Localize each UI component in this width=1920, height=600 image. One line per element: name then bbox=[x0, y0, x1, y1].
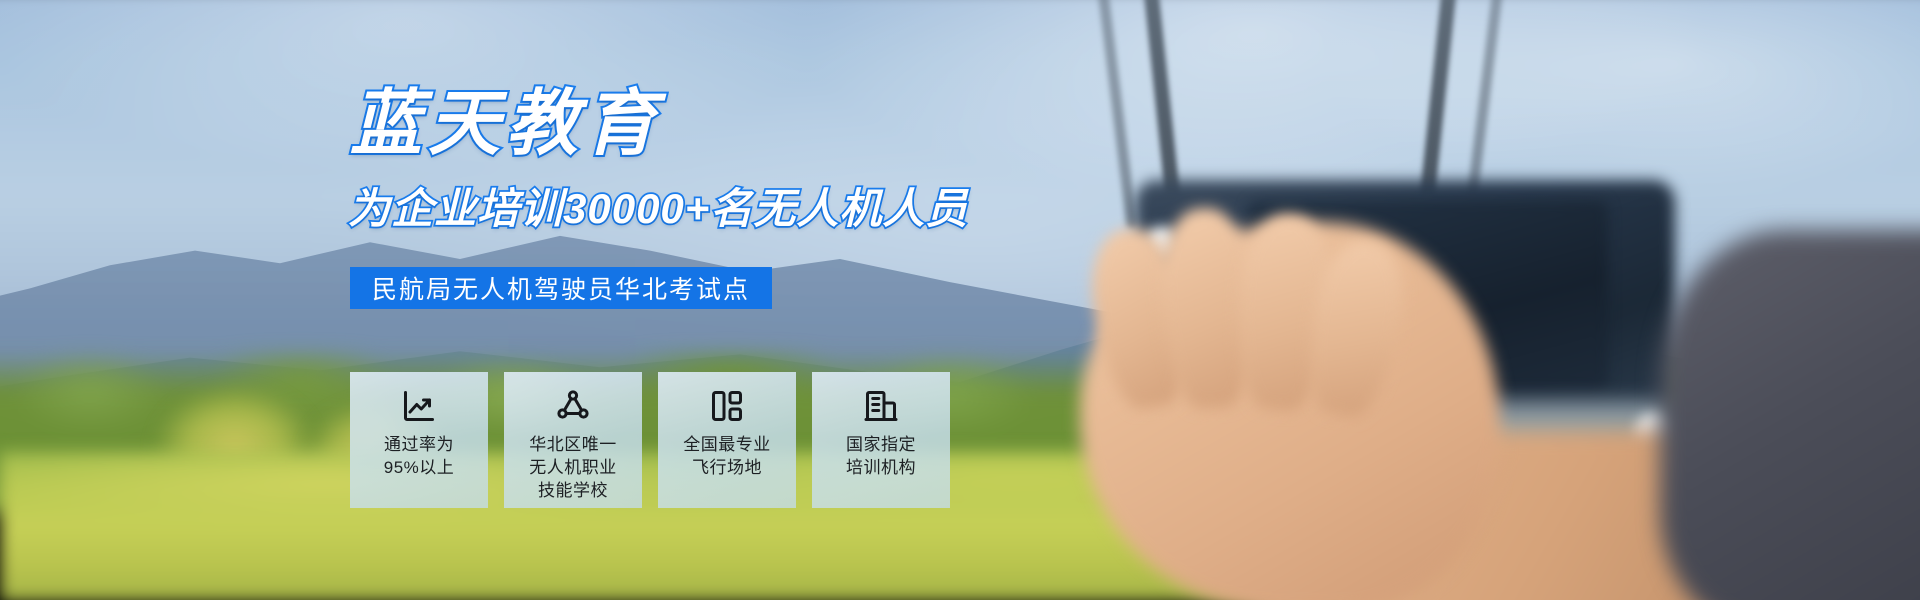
network-nodes-icon bbox=[555, 388, 591, 424]
layout-grid-icon bbox=[709, 388, 745, 424]
banner-headline: 蓝天教育 bbox=[350, 88, 662, 160]
feature-card[interactable]: 全国最专业 飞行场地 bbox=[658, 372, 796, 508]
certification-badge: 民航局无人机驾驶员华北考试点 bbox=[350, 267, 772, 309]
feature-card[interactable]: 通过率为 95%以上 bbox=[350, 372, 488, 508]
hero-banner: 蓝天教育 为企业培训30000+名无人机人员 民航局无人机驾驶员华北考试点 通过… bbox=[0, 0, 1920, 600]
banner-subheadline: 为企业培训30000+名无人机人员 bbox=[348, 188, 968, 230]
feature-card[interactable]: 国家指定 培训机构 bbox=[812, 372, 950, 508]
chart-trending-up-icon bbox=[401, 388, 437, 424]
feature-card-list: 通过率为 95%以上 华北区唯一 无人机职业 技能学校 bbox=[350, 372, 950, 508]
feature-card-text: 国家指定 培训机构 bbox=[846, 434, 916, 480]
feature-card[interactable]: 华北区唯一 无人机职业 技能学校 bbox=[504, 372, 642, 508]
banner-content: 蓝天教育 为企业培训30000+名无人机人员 民航局无人机驾驶员华北考试点 通过… bbox=[0, 0, 1920, 600]
building-icon bbox=[863, 388, 899, 424]
feature-card-text: 华北区唯一 无人机职业 技能学校 bbox=[529, 434, 617, 503]
feature-card-text: 全国最专业 飞行场地 bbox=[683, 434, 771, 480]
feature-card-text: 通过率为 95%以上 bbox=[384, 434, 455, 480]
